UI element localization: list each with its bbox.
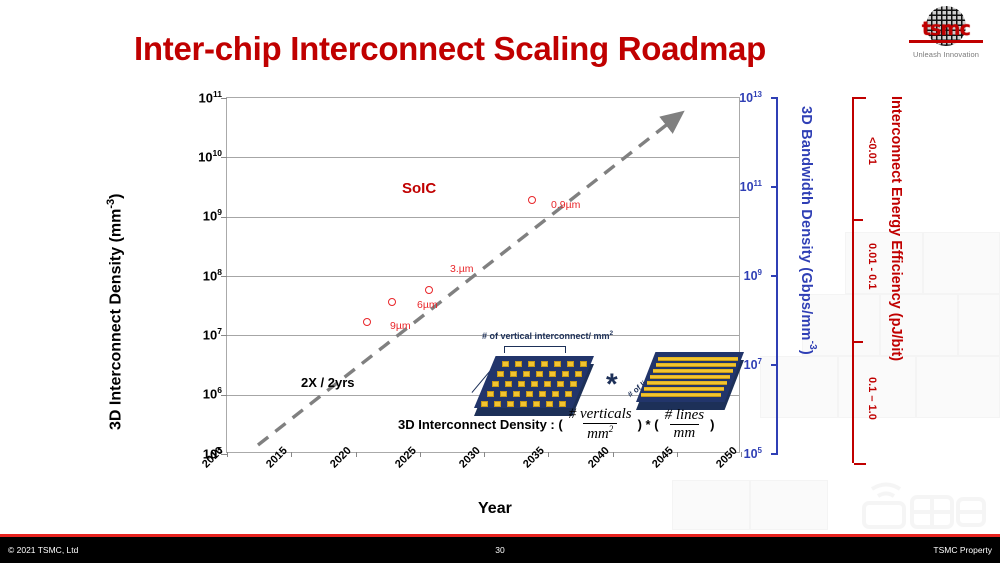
gridline (227, 276, 739, 277)
chart-area: 1011 1010 109 108 107 106 105 3D Interco… (0, 0, 1000, 563)
formula-numerator-verticals: # verticals (565, 406, 636, 423)
energy-segment-lt0.01: <0.01 (866, 137, 878, 165)
vertical-interconnect-dots (474, 356, 594, 408)
formula-den1-base: mm (587, 426, 609, 442)
density-formula: 3D Interconnect Density : ( # verticals … (398, 406, 715, 443)
bandwidth-label-1e9: 109 (744, 268, 762, 283)
y-exp: 11 (213, 89, 222, 99)
data-point-3um[interactable] (425, 286, 433, 294)
slab-vertical-interconnects (474, 356, 594, 408)
formula-denominator-mm: mm (670, 424, 700, 442)
y-axis-title-exp: -3 (105, 199, 117, 209)
slide-footer: © 2021 TSMC, Ltd 30 TSMC Property (0, 537, 1000, 563)
formula-den1-exp: 2 (609, 424, 614, 434)
data-point-label-3um: 3.µm (450, 263, 474, 275)
x-axis-title: Year (478, 500, 512, 518)
energy-segment-0.01-0.1: 0.01 - 0.1 (866, 243, 878, 289)
y-exp: 8 (217, 267, 222, 277)
y-axis-label-1e10: 1010 (178, 148, 222, 164)
bw-exp: 9 (758, 268, 762, 277)
y-exp: 9 (217, 207, 222, 217)
data-point-9um[interactable] (363, 318, 371, 326)
tsmc-wordmark: tsmc (898, 20, 994, 39)
footer-page-number: 30 (0, 545, 1000, 555)
y-axis-label-1e6: 106 (178, 385, 222, 401)
data-point-6um[interactable] (388, 298, 396, 306)
bandwidth-tick: 1011 (771, 186, 778, 188)
bw-exp: 13 (753, 90, 762, 99)
y-axis-label-1e9: 109 (178, 207, 222, 223)
caption-brace (504, 346, 566, 352)
energy-efficiency-axis: <0.01 0.01 - 0.1 0.1 – 1.0 (852, 97, 854, 463)
x-axis-tick (227, 452, 228, 457)
vertical-interconnect-caption-text: # of vertical interconnect/ mm (482, 331, 610, 341)
bw-exp: 11 (754, 179, 762, 188)
y-exp: 10 (213, 148, 222, 158)
bandwidth-axis-title-exp: -3 (807, 341, 818, 350)
tsmc-underline (909, 40, 983, 43)
data-point-0.9um[interactable] (528, 196, 536, 204)
vertical-interconnect-caption-exp: 2 (610, 330, 614, 337)
bw-exp: 7 (758, 357, 762, 366)
energy-axis-divider (854, 341, 863, 343)
formula-numerator-lines: # lines (661, 407, 709, 424)
energy-efficiency-axis-title: Interconnect Energy Efficiency (pJ/bit) (888, 96, 904, 361)
bandwidth-tick: 1013 (771, 97, 778, 99)
bandwidth-tick: 107 (771, 364, 778, 366)
multiply-operator: * (606, 370, 618, 400)
energy-axis-cap-top (854, 97, 866, 99)
bandwidth-tick: 105 (771, 453, 778, 455)
bandwidth-label-1e11: 1011 (740, 179, 762, 194)
y-axis-title: 3D Interconnect Density (mm-3) (105, 194, 125, 431)
bandwidth-axis: 1013 1011 109 107 105 (776, 97, 778, 453)
data-point-label-6um: 6µm (417, 299, 438, 311)
bandwidth-axis-title-tail: ) (798, 350, 814, 355)
y-exp: 6 (217, 385, 222, 395)
gridline (227, 157, 739, 158)
energy-segment-0.1-1.0: 0.1 – 1.0 (866, 377, 878, 420)
formula-mid: ) * ( (638, 417, 659, 432)
x-axis-tick (356, 452, 357, 457)
x-axis-tick (420, 452, 421, 457)
data-point-label-0.9um: 0.9µm (551, 199, 580, 211)
bandwidth-label-1e13: 1013 (739, 90, 762, 105)
vertical-interconnect-caption: # of vertical interconnect/ mm2 (482, 330, 613, 341)
data-point-label-9um: 9µm (390, 320, 411, 332)
formula-fraction-verticals: # verticals mm2 (565, 406, 636, 443)
gridline (227, 217, 739, 218)
y-axis-title-tail: ) (107, 194, 124, 199)
y-axis-label-1e8: 108 (178, 267, 222, 283)
bw-exp: 5 (758, 446, 762, 455)
energy-axis-cap-bottom (854, 463, 866, 465)
y-axis-label-1e7: 107 (178, 326, 222, 342)
formula-tail: ) (710, 417, 714, 432)
x-axis-tick (291, 452, 292, 457)
tsmc-logo: tsmc Unleash Innovation (898, 6, 994, 64)
footer-property: TSMC Property (933, 545, 992, 555)
y-exp: 7 (217, 326, 222, 336)
formula-lead: 3D Interconnect Density : ( (398, 417, 563, 432)
formula-fraction-lines: # lines mm (661, 407, 709, 442)
y-axis-title-text: 3D Interconnect Density (mm (107, 209, 124, 430)
bandwidth-axis-title: 3D Bandwidth Density (Gbps/mm-3) (798, 106, 818, 355)
energy-axis-divider (854, 219, 863, 221)
soic-annotation: SoIC (402, 180, 436, 197)
slide-title: Inter-chip Interconnect Scaling Roadmap (0, 30, 900, 68)
y-axis-label-1e11: 1011 (178, 89, 222, 105)
slab-lines (636, 352, 744, 402)
line-interconnect-stripes (636, 352, 744, 402)
scaling-rate-annotation: 2X / 2yrs (301, 375, 355, 390)
tsmc-tagline: Unleash Innovation (898, 50, 994, 59)
bandwidth-axis-title-text: 3D Bandwidth Density (Gbps/mm (798, 106, 814, 341)
bandwidth-tick: 109 (771, 275, 778, 277)
formula-denominator-mm2: mm2 (583, 423, 617, 443)
